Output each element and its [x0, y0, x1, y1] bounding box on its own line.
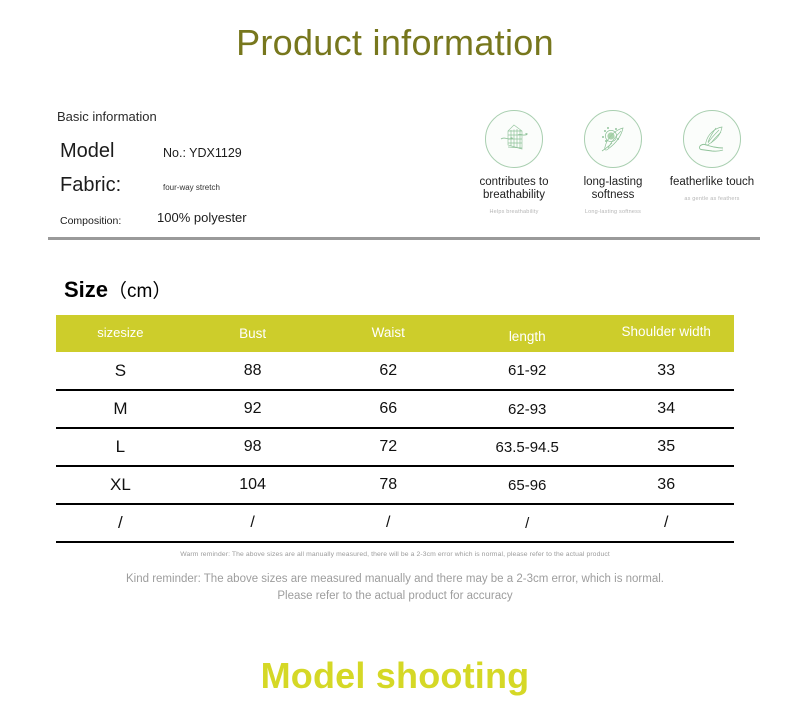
- cell-size: XL: [56, 466, 185, 504]
- size-table-body: S 88 62 61-92 33 M 92 66 62-93 34 L 98 7…: [56, 352, 734, 542]
- column-header-size: sizesize: [56, 315, 185, 352]
- cell-bust: 98: [185, 428, 321, 466]
- spec-value-fabric: four-way stretch: [163, 183, 220, 192]
- model-shooting-title: Model shooting: [0, 655, 790, 697]
- basic-information-heading: Basic information: [57, 109, 157, 124]
- size-table-head: sizesize Bust Waist length Shoulder widt…: [56, 315, 734, 352]
- cell-size: M: [56, 390, 185, 428]
- cell-waist: /: [320, 504, 456, 542]
- feature-breathability: contributes to breathability Helps breat…: [468, 110, 560, 215]
- table-row: M 92 66 62-93 34: [56, 390, 734, 428]
- soft-feather-icon: [584, 110, 642, 168]
- feature-subtitle-breathability: Helps breathability: [468, 209, 560, 215]
- cell-size: S: [56, 352, 185, 390]
- size-heading-label: Size: [64, 277, 108, 302]
- cell-size: L: [56, 428, 185, 466]
- cell-size: /: [56, 504, 185, 542]
- cell-shoulder: 34: [598, 390, 734, 428]
- kind-reminder-note: Kind reminder: The above sizes are measu…: [0, 571, 790, 605]
- feature-subtitle-softness: Long-lasting softness: [567, 209, 659, 215]
- spec-value-model: No.: YDX1129: [163, 146, 242, 160]
- page-title: Product information: [0, 22, 790, 64]
- table-row: S 88 62 61-92 33: [56, 352, 734, 390]
- column-header-length: length: [456, 315, 598, 352]
- spec-value-composition: 100% polyester: [157, 210, 247, 225]
- size-table: sizesize Bust Waist length Shoulder widt…: [56, 315, 734, 543]
- cell-shoulder: 33: [598, 352, 734, 390]
- spec-row-composition: Composition: 100% polyester: [60, 204, 390, 232]
- spec-row-fabric: Fabric: four-way stretch: [60, 172, 390, 204]
- cell-shoulder: 36: [598, 466, 734, 504]
- size-heading-unit: （cm）: [108, 281, 171, 302]
- cell-shoulder: /: [598, 504, 734, 542]
- mesh-airflow-icon: [485, 110, 543, 168]
- cell-length: 62-93: [456, 390, 598, 428]
- spec-row-model: Model No.: YDX1129: [60, 140, 390, 172]
- section-divider: [48, 237, 760, 240]
- feature-title-softness: long-lasting softness: [567, 176, 659, 202]
- table-row: / / / / /: [56, 504, 734, 542]
- column-header-shoulder: Shoulder width: [598, 315, 734, 352]
- feature-title-featherlike-touch: featherlike touch: [666, 176, 758, 189]
- feature-featherlike-touch: featherlike touch as gentle as feathers: [666, 110, 758, 215]
- cell-bust: 92: [185, 390, 321, 428]
- column-header-waist: Waist: [320, 315, 456, 352]
- cell-waist: 62: [320, 352, 456, 390]
- cell-length: 63.5-94.5: [456, 428, 598, 466]
- spec-label-fabric: Fabric:: [60, 174, 121, 197]
- warm-reminder-note: Warm reminder: The above sizes are all m…: [0, 551, 790, 558]
- cell-shoulder: 35: [598, 428, 734, 466]
- table-row: L 98 72 63.5-94.5 35: [56, 428, 734, 466]
- cell-length: 61-92: [456, 352, 598, 390]
- size-section-heading: Size（cm）: [64, 276, 171, 303]
- cell-length: /: [456, 504, 598, 542]
- cell-bust: 88: [185, 352, 321, 390]
- feature-subtitle-featherlike-touch: as gentle as feathers: [666, 196, 758, 202]
- product-information-page: Product information Basic information Mo…: [0, 0, 790, 715]
- spec-label-model: Model: [60, 140, 114, 163]
- cell-bust: /: [185, 504, 321, 542]
- cell-waist: 66: [320, 390, 456, 428]
- kind-reminder-line-2: Please refer to the actual product for a…: [0, 588, 790, 605]
- column-header-bust: Bust: [185, 315, 321, 352]
- feature-title-breathability: contributes to breathability: [468, 176, 560, 202]
- feature-badges: contributes to breathability Helps breat…: [468, 110, 758, 215]
- cell-bust: 104: [185, 466, 321, 504]
- cell-length: 65-96: [456, 466, 598, 504]
- spec-label-composition: Composition:: [60, 215, 121, 227]
- size-table-header-row: sizesize Bust Waist length Shoulder widt…: [56, 315, 734, 352]
- specification-list: Model No.: YDX1129 Fabric: four-way stre…: [60, 140, 390, 232]
- cell-waist: 72: [320, 428, 456, 466]
- hand-feather-icon: [683, 110, 741, 168]
- table-row: XL 104 78 65-96 36: [56, 466, 734, 504]
- feature-softness: long-lasting softness Long-lasting softn…: [567, 110, 659, 215]
- kind-reminder-line-1: Kind reminder: The above sizes are measu…: [0, 571, 790, 588]
- cell-waist: 78: [320, 466, 456, 504]
